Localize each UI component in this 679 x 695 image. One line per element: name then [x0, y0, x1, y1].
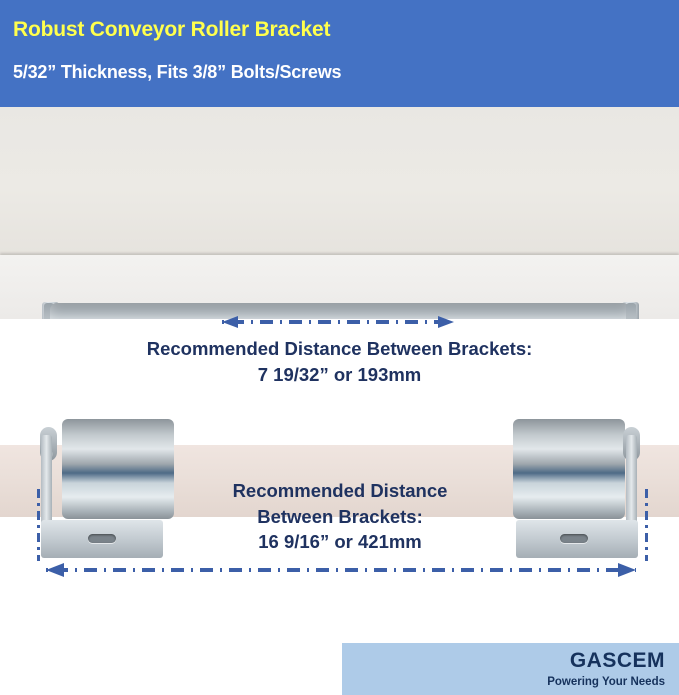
- mounting-slot: [88, 534, 116, 543]
- roller-end-cap-right: [626, 303, 636, 319]
- mounting-slot: [560, 534, 588, 543]
- dimension-arrow-single: [208, 316, 468, 328]
- page-title: Robust Conveyor Roller Bracket: [13, 18, 330, 42]
- caption-single-line1: Recommended Distance Between Brackets:: [0, 336, 679, 362]
- caption-single-bracket: Recommended Distance Between Brackets: 7…: [0, 336, 679, 387]
- brand-name: GASCEM: [570, 649, 665, 673]
- caption-pair-line2: Between Brackets:: [160, 504, 520, 530]
- caption-two-brackets: Recommended Distance Between Brackets: 1…: [160, 478, 520, 555]
- product-infographic: Robust Conveyor Roller Bracket 5/32” Thi…: [0, 0, 679, 695]
- caption-pair-line3: 16 9/16” or 421mm: [160, 529, 520, 555]
- conveyor-roller: [62, 419, 174, 519]
- brand-tagline: Powering Your Needs: [547, 676, 665, 688]
- extension-line-left: [37, 489, 40, 561]
- caption-single-line2: 7 19/32” or 193mm: [0, 362, 679, 388]
- header-banner: Robust Conveyor Roller Bracket 5/32” Thi…: [0, 0, 679, 107]
- brand-footer: GASCEM Powering Your Needs: [342, 643, 679, 695]
- extension-line-right: [645, 489, 648, 561]
- conveyor-roller: [513, 419, 625, 519]
- caption-pair-line1: Recommended Distance: [160, 478, 520, 504]
- page-subtitle: 5/32” Thickness, Fits 3/8” Bolts/Screws: [13, 62, 341, 83]
- product-photo-single-bracket: [0, 107, 679, 319]
- dimension-arrow-pair: [30, 563, 652, 577]
- photo-wall-background: [0, 107, 679, 255]
